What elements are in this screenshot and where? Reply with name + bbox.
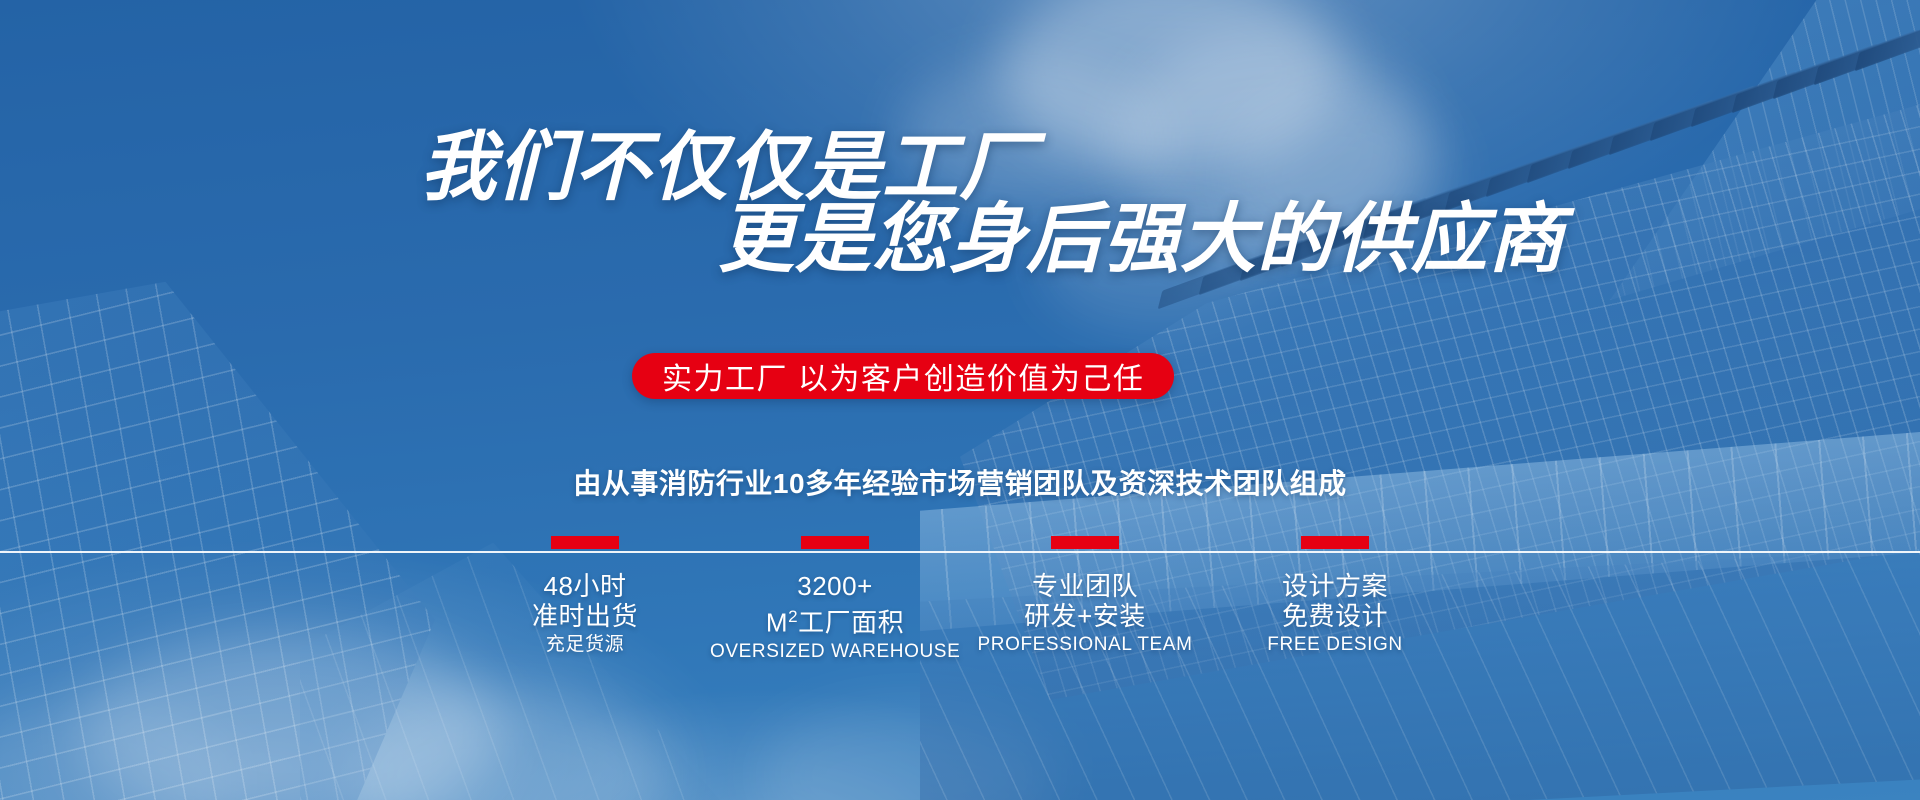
feature-column: 3200+ M2工厂面积 OVERSIZED WAREHOUSE	[710, 536, 960, 665]
hero-content: 我们不仅仅是工厂 更是您身后强大的供应商 实力工厂 以为客户创造价值为己任 由从…	[0, 0, 1920, 800]
red-marker-bar	[551, 536, 619, 549]
area-unit-superscript: 2	[788, 607, 798, 626]
red-marker-bar	[1301, 536, 1369, 549]
feature-line-1: 3200+	[710, 571, 960, 601]
feature-line-2: 准时出货	[460, 601, 710, 632]
feature-line-3: OVERSIZED WAREHOUSE	[710, 639, 960, 665]
feature-column: 48小时 准时出货 充足货源	[460, 536, 710, 665]
feature-line-1: 专业团队	[960, 571, 1210, 601]
headline-line-2: 更是您身后强大的供应商	[718, 200, 1565, 280]
feature-line-3: FREE DESIGN	[1210, 632, 1460, 658]
feature-stats-row: 48小时 准时出货 充足货源 3200+ M2工厂面积 OVERSIZED WA…	[0, 536, 1920, 665]
feature-column: 设计方案 免费设计 FREE DESIGN	[1210, 536, 1460, 665]
headline-line-1: 我们不仅仅是工厂	[420, 128, 1036, 208]
hero-banner: 我们不仅仅是工厂 更是您身后强大的供应商 实力工厂 以为客户创造价值为己任 由从…	[0, 0, 1920, 800]
area-unit-suffix: 工厂面积	[798, 608, 904, 638]
feature-line-3: 充足货源	[460, 632, 710, 658]
feature-line-2: 免费设计	[1210, 601, 1460, 632]
feature-line-2: 研发+安装	[960, 601, 1210, 632]
red-marker-bar	[801, 536, 869, 549]
area-unit-prefix: M	[766, 608, 788, 638]
feature-line-1: 48小时	[460, 571, 710, 601]
feature-line-2: M2工厂面积	[710, 601, 960, 639]
subheadline: 由从事消防行业10多年经验市场营销团队及资深技术团队组成	[0, 462, 1920, 502]
feature-column: 专业团队 研发+安装 PROFESSIONAL TEAM	[960, 536, 1210, 665]
red-marker-bar	[1051, 536, 1119, 549]
slogan-badge: 实力工厂 以为客户创造价值为己任	[632, 353, 1174, 399]
feature-line-3: PROFESSIONAL TEAM	[960, 632, 1210, 658]
feature-line-1: 设计方案	[1210, 571, 1460, 601]
